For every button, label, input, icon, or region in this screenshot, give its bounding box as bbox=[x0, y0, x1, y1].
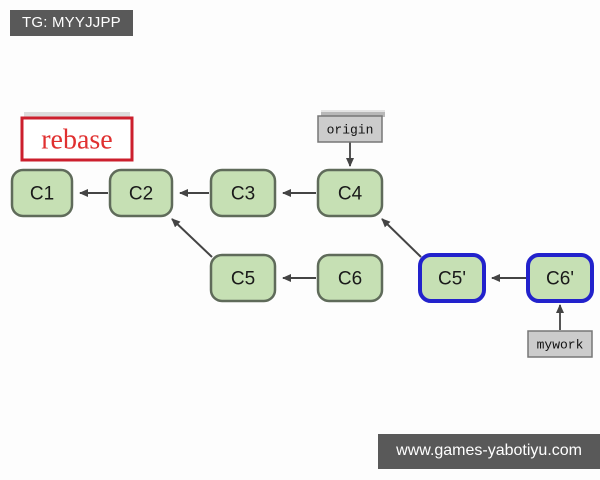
commit-node-c6[interactable]: C6 bbox=[318, 255, 382, 301]
ref-text-origin: origin bbox=[327, 123, 374, 138]
commit-label-c1: C1 bbox=[30, 184, 54, 205]
ref-labels: origin mywork bbox=[318, 116, 592, 357]
ref-label-mywork[interactable]: mywork bbox=[528, 331, 592, 357]
bar-above-rebase bbox=[24, 112, 130, 117]
edge-c5p-c4 bbox=[382, 219, 421, 257]
commit-label-c5-prime: C5' bbox=[438, 269, 466, 290]
ref-label-origin[interactable]: origin bbox=[318, 116, 382, 142]
commit-node-c2[interactable]: C2 bbox=[110, 170, 172, 216]
tg-channel-badge: TG: MYYJJPP bbox=[10, 10, 133, 36]
rebase-operation-label: rebase bbox=[22, 118, 132, 160]
commit-label-c4: C4 bbox=[338, 184, 363, 205]
rebase-label-text: rebase bbox=[41, 125, 113, 156]
commit-node-c4[interactable]: C4 bbox=[318, 170, 382, 216]
commit-label-c2: C2 bbox=[129, 184, 153, 205]
commit-nodes: C1 C2 C3 C4 C5 C6 bbox=[12, 170, 592, 301]
commit-label-c3: C3 bbox=[231, 184, 255, 205]
commit-label-c6-prime: C6' bbox=[546, 269, 574, 290]
commit-node-c6-prime[interactable]: C6' bbox=[528, 255, 592, 301]
commit-node-c5[interactable]: C5 bbox=[211, 255, 275, 301]
commit-node-c1[interactable]: C1 bbox=[12, 170, 72, 216]
edge-c5-c2 bbox=[172, 219, 212, 257]
commit-node-c3[interactable]: C3 bbox=[211, 170, 275, 216]
commit-label-c5: C5 bbox=[231, 269, 255, 290]
bar-above-origin-light bbox=[321, 110, 385, 112]
commit-label-c6: C6 bbox=[338, 269, 362, 290]
git-rebase-diagram: rebase C1 bbox=[0, 0, 600, 480]
commit-node-c5-prime[interactable]: C5' bbox=[420, 255, 484, 301]
diagram-screenshot: rebase C1 bbox=[0, 0, 600, 480]
site-watermark: www.games-yabotiyu.com bbox=[378, 434, 600, 469]
ref-text-mywork: mywork bbox=[537, 338, 584, 353]
